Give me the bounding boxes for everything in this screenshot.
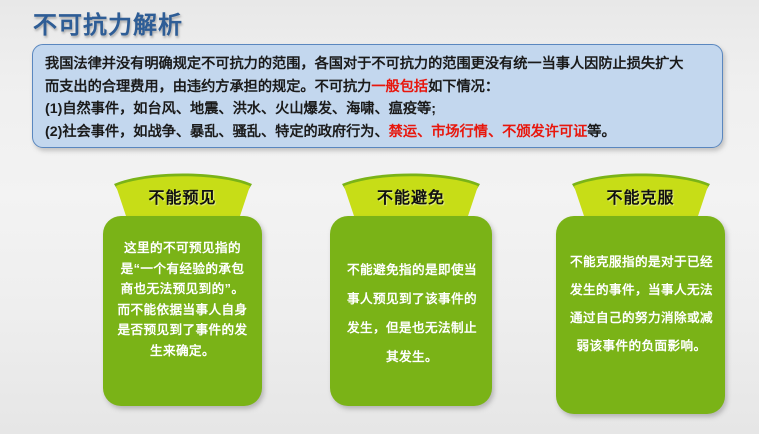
concept-card-insurmountable: 不能克服指的是对于已经发生的事件，当事人无法通过自己的努力消除或减弱该事件的负面… [556, 216, 725, 414]
banner-unforeseeable: 不能预见 [103, 170, 262, 222]
intro-text-plain: 如下情况： [428, 79, 499, 95]
banner-unavoidable: 不能避免 [330, 170, 492, 222]
intro-highlight-embargo-list: 禁运、市场行情、不颁发许可证 [389, 124, 588, 140]
intro-text-plain: (1)自然事件，如台风、地震、洪水、火山爆发、海啸、瘟疫等; [45, 101, 436, 117]
banner-label: 不能预见 [103, 184, 262, 208]
banner-label: 不能避免 [330, 184, 492, 208]
page-title: 不可抗力解析 [33, 5, 183, 40]
intro-line-3-natural-events: (1)自然事件，如台风、地震、洪水、火山爆发、海啸、瘟疫等; [45, 98, 712, 121]
concept-column-insurmountable: 不能克服 不能克服指的是对于已经发生的事件，当事人无法通过自己的努力消除或减弱该… [556, 170, 725, 414]
intro-text-plain: 我国法律并没有明确规定不可抗力的范围，各国对于不可抗力的范围更没有统一当事人因防… [45, 56, 683, 72]
concept-column-unforeseeable: 不能预见 这里的不可预见指的是“一个有经验的承包商也无法预见到的”。而不能依据当… [103, 170, 262, 406]
intro-text-box: 我国法律并没有明确规定不可抗力的范围，各国对于不可抗力的范围更没有统一当事人因防… [32, 44, 723, 148]
slide-canvas: 不可抗力解析 我国法律并没有明确规定不可抗力的范围，各国对于不可抗力的范围更没有… [0, 0, 759, 434]
concept-card-unavoidable: 不能避免指的是即使当事人预见到了该事件的发生，但是也无法制止其发生。 [330, 216, 492, 406]
intro-text-plain: 等。 [587, 124, 615, 140]
concept-card-unforeseeable: 这里的不可预见指的是“一个有经验的承包商也无法预见到的”。而不能依据当事人自身是… [103, 216, 262, 406]
intro-text-plain: (2)社会事件，如战争、暴乱、骚乱、特定的政府行为、 [45, 124, 389, 140]
concept-column-unavoidable: 不能避免 不能避免指的是即使当事人预见到了该事件的发生，但是也无法制止其发生。 [330, 170, 492, 406]
banner-label: 不能克服 [556, 184, 725, 208]
intro-line-2: 而支出的合理费用，由违约方承担的规定。不可抗力一般包括如下情况： [45, 76, 712, 99]
banner-insurmountable: 不能克服 [556, 170, 725, 222]
intro-line-1: 我国法律并没有明确规定不可抗力的范围，各国对于不可抗力的范围更没有统一当事人因防… [45, 53, 712, 76]
intro-line-4-social-events: (2)社会事件，如战争、暴乱、骚乱、特定的政府行为、禁运、市场行情、不颁发许可证… [45, 121, 712, 144]
intro-highlight-general-includes: 一般包括 [371, 79, 428, 95]
intro-text-plain: 而支出的合理费用，由违约方承担的规定。不可抗力 [45, 79, 371, 95]
